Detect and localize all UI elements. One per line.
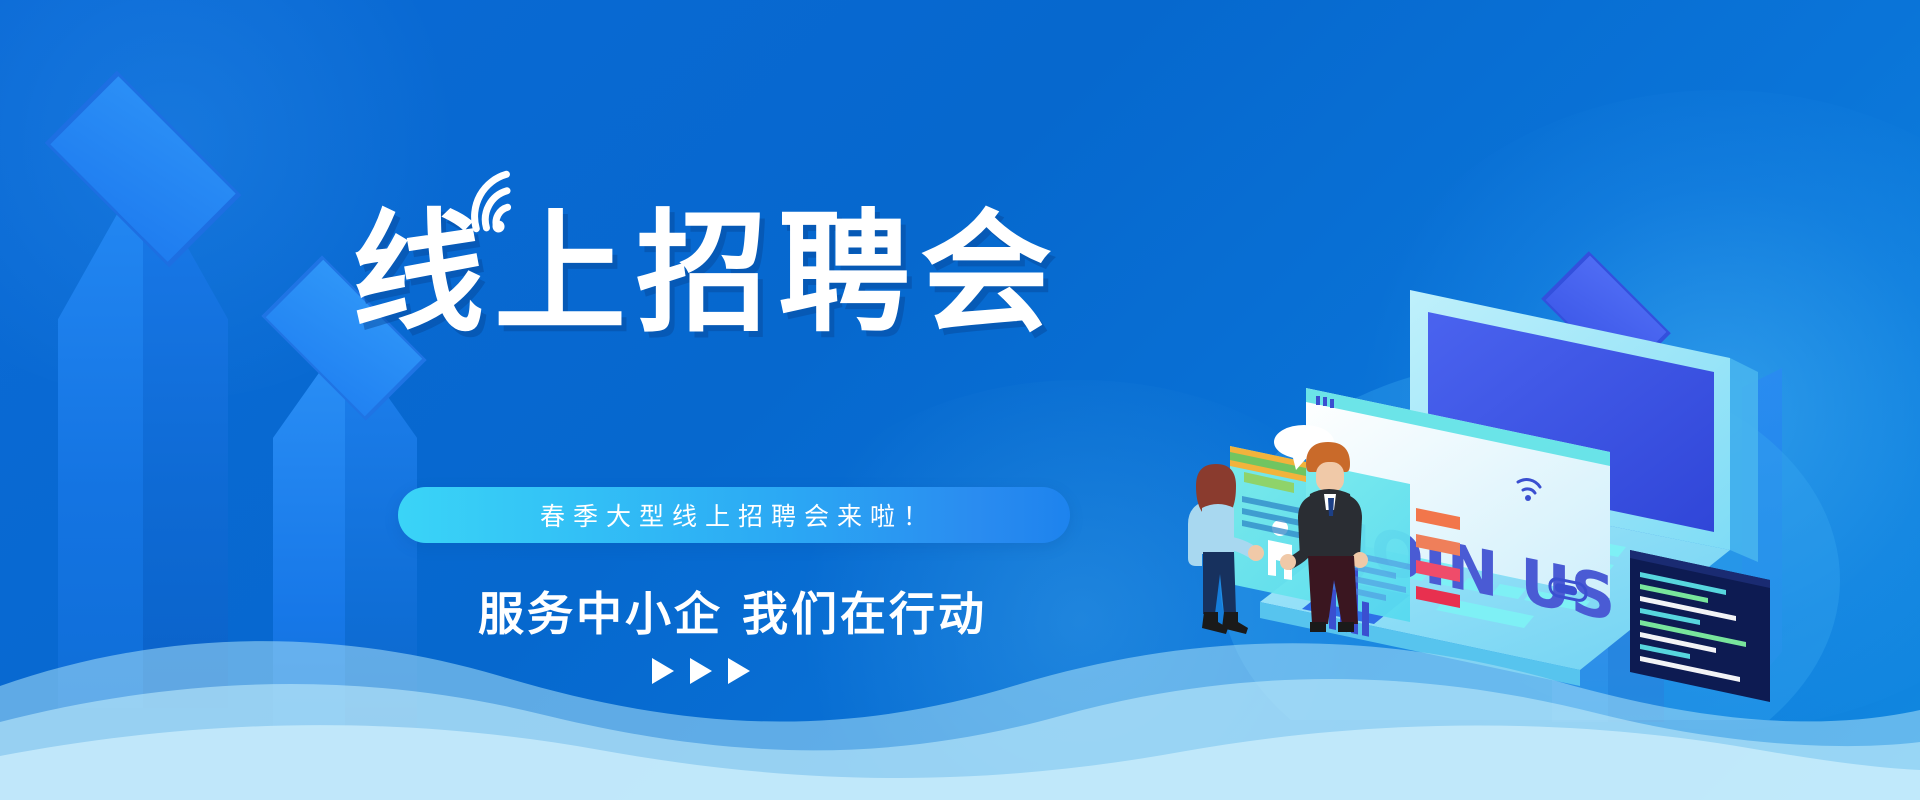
subtitle-pill: 春季大型线上招聘会来啦！ (398, 487, 1070, 543)
building-roof (50, 76, 235, 261)
promotional-banner: 线上招聘会 春季大型线上招聘会来啦！ 服务中小企 我们在行动 (0, 0, 1920, 800)
wave-decoration (0, 590, 1920, 800)
page-title: 线上招聘会 (352, 208, 1062, 340)
subtitle-pill-label: 春季大型线上招聘会来啦！ (532, 497, 936, 533)
headline-group: 线上招聘会 (352, 208, 1062, 340)
wifi-dot (1525, 495, 1531, 501)
